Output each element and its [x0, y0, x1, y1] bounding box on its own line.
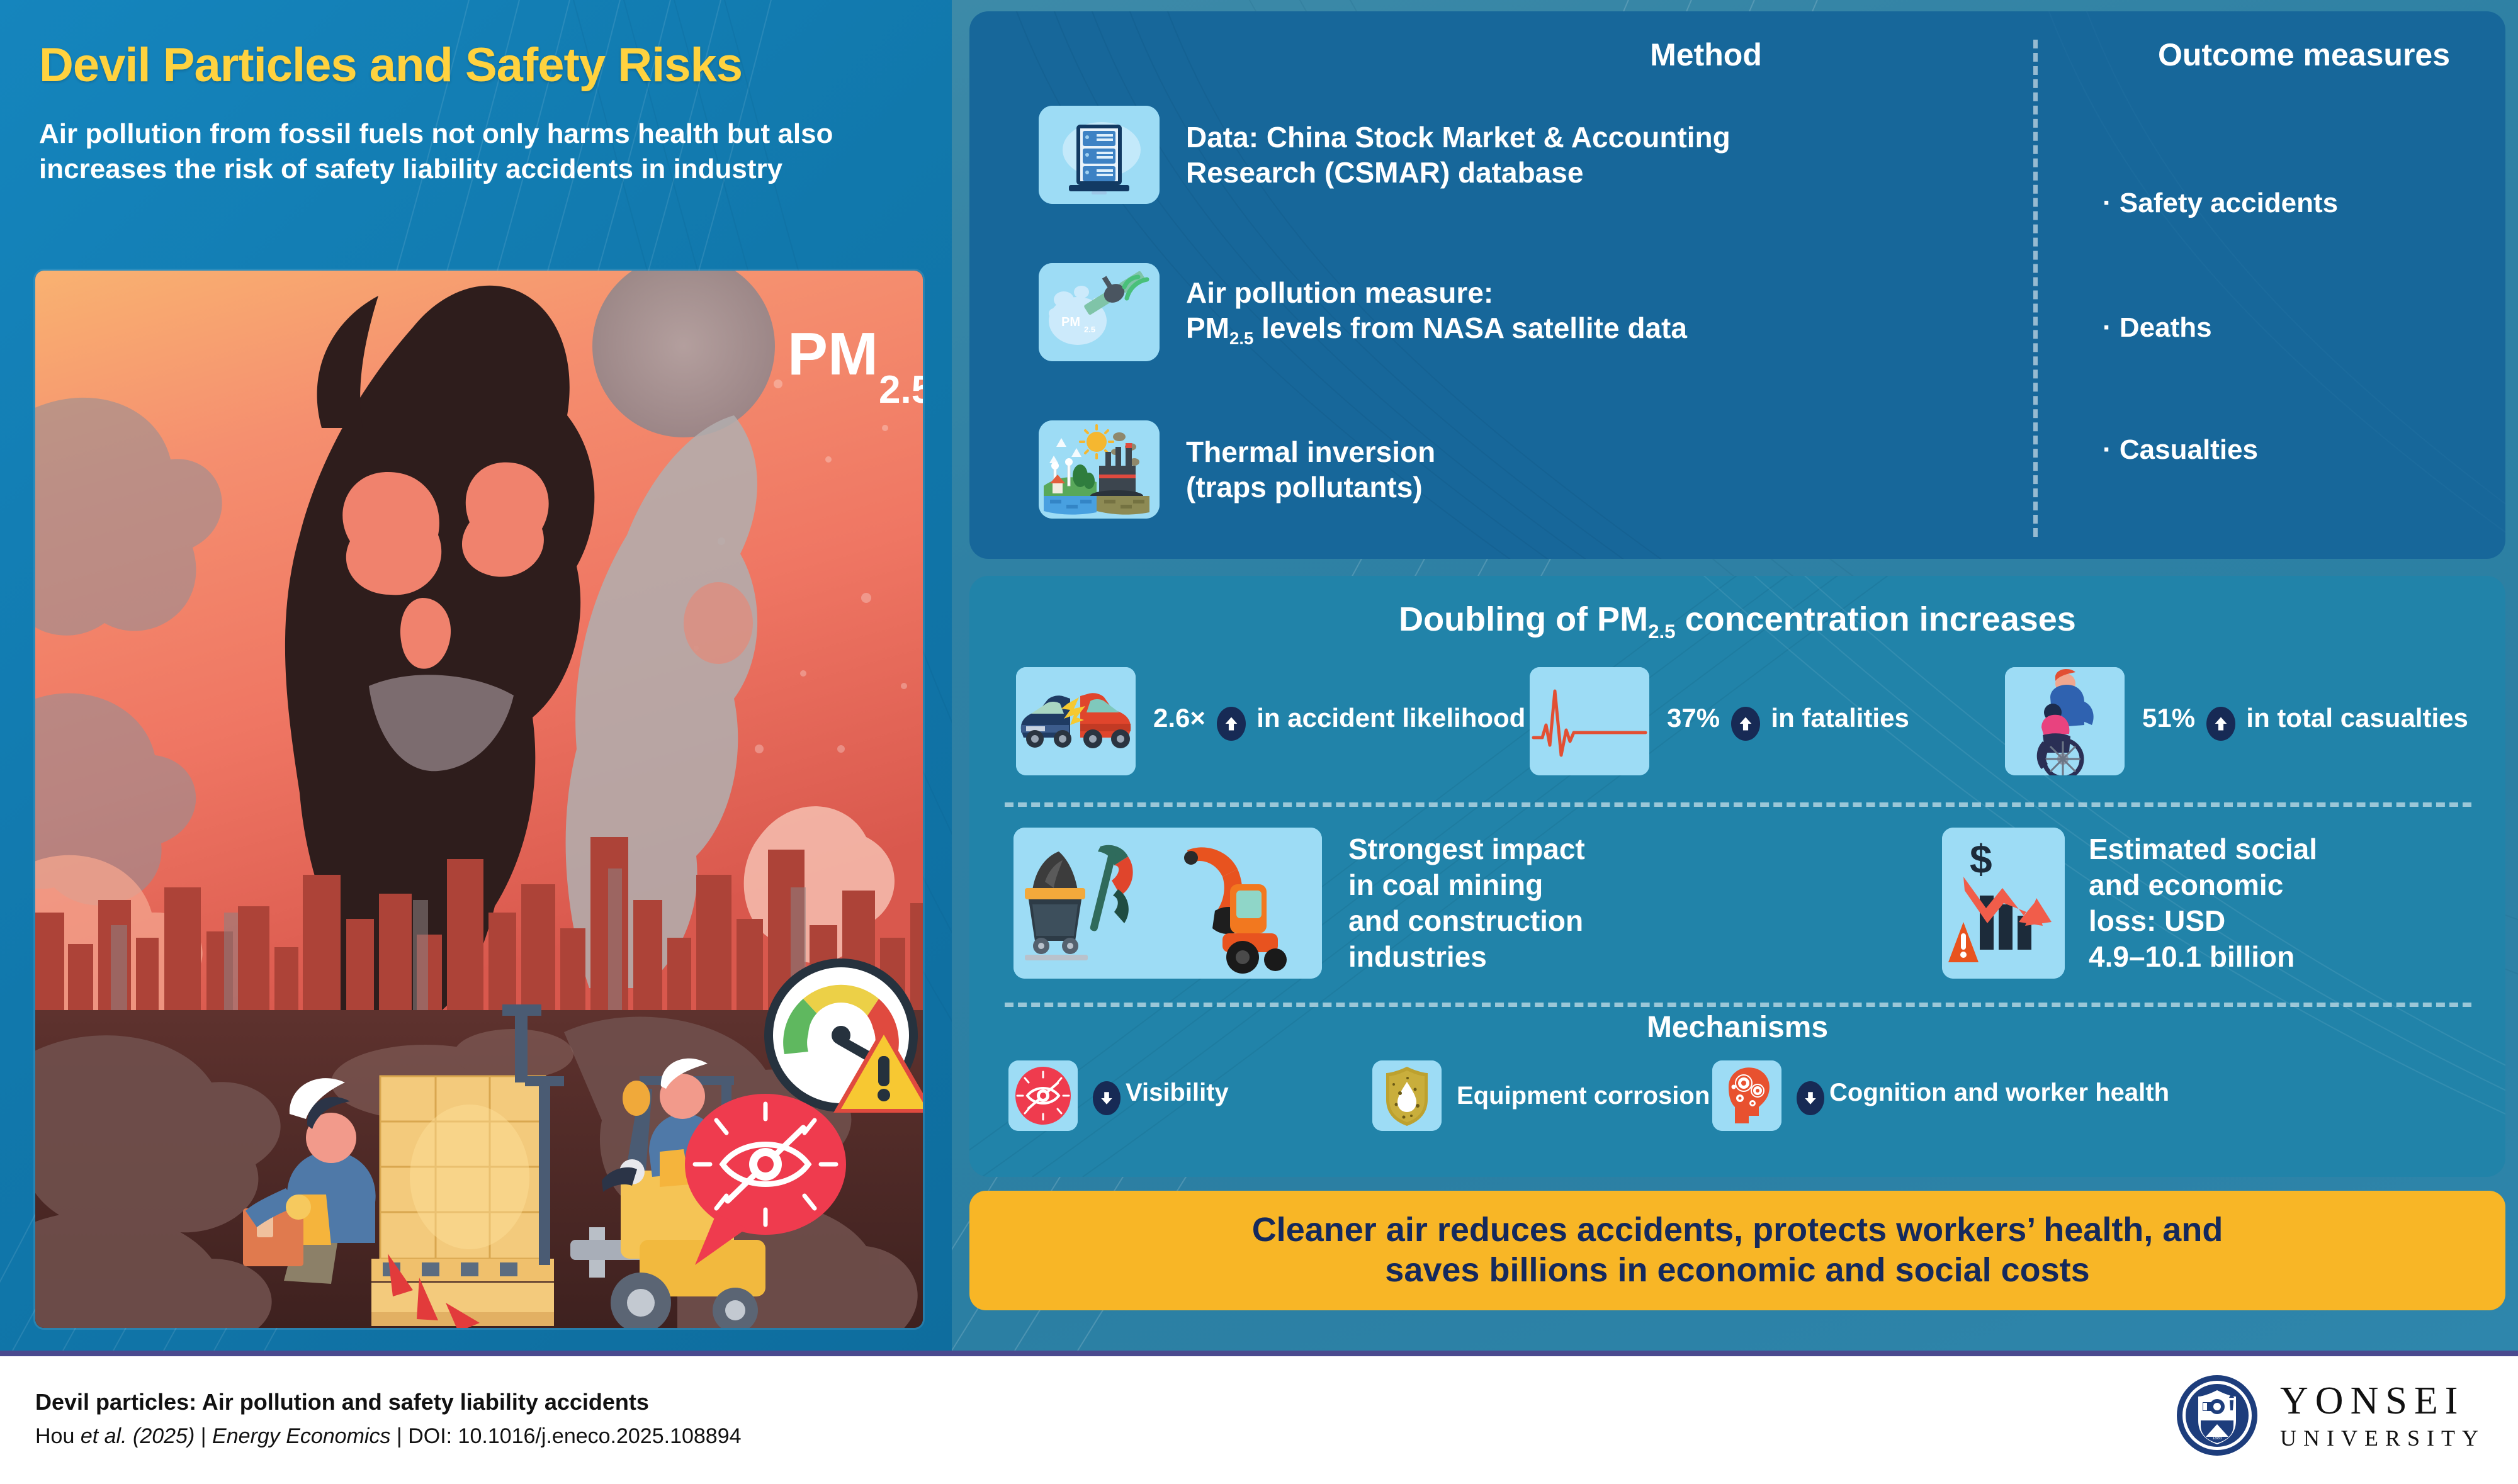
- infographic-canvas: Devil Particles and Safety Risks Air pol…: [0, 0, 2518, 1484]
- pm-rest: levels from NASA satellite data: [1253, 312, 1687, 344]
- stat-total-casualties: 51% in total casualties: [2005, 667, 2468, 775]
- stat-fatalities-value: 37%: [1667, 703, 1720, 733]
- method-row-data-line1: Data: China Stock Market & Accounting: [1186, 120, 1730, 155]
- method-row-thermal-inversion: Thermal inversion (traps pollutants): [1039, 420, 1435, 519]
- economic-loss-block: $: [1942, 828, 2317, 979]
- stat-fatalities: 37% in fatalities: [1530, 667, 1909, 775]
- method-row-air-pollution-text: Air pollution measure: PM2.5 levels from…: [1186, 275, 1687, 349]
- outcome-item-casualties: · Casualties: [2103, 434, 2258, 466]
- pm-text: PM: [1186, 312, 1229, 344]
- footer-doi: DOI: 10.1016/j.eneco.2025.108894: [408, 1424, 741, 1448]
- loss-line-2: and economic: [2089, 867, 2317, 903]
- footer-citation: Hou et al. (2025) | Energy Economics | D…: [35, 1424, 742, 1449]
- stat-casualties-label: in total casualties: [2239, 703, 2468, 733]
- method-row-thermal-line2: (traps pollutants): [1186, 469, 1435, 505]
- stat-accident-text: 2.6× in accident likelihood: [1153, 702, 1525, 741]
- stat-accident-label: in accident likelihood: [1250, 703, 1526, 733]
- declining-chart-dollar-icon: $: [1942, 828, 2065, 979]
- corroded-shield-icon: [1372, 1060, 1442, 1131]
- method-row-thermal-text: Thermal inversion (traps pollutants): [1186, 434, 1435, 505]
- up-arrow-icon: [1731, 707, 1760, 741]
- yonsei-crest-icon: 1885: [2176, 1374, 2259, 1457]
- impact-industries-block: Strongest impact in coal mining and cons…: [1013, 828, 1585, 979]
- findings-title: Doubling of PM2.5 concentration increase…: [969, 600, 2505, 643]
- mechanism-visibility-label: Visibility: [1126, 1079, 1229, 1106]
- vertical-dashed-divider: [2033, 40, 2038, 537]
- database-server-icon: [1039, 106, 1160, 204]
- loss-line-3: loss: USD: [2089, 903, 2317, 939]
- stat-casualties-text: 51% in total casualties: [2142, 702, 2468, 741]
- car-crash-icon: [1016, 667, 1136, 775]
- yonsei-university-logo: 1885 YONSEI UNIVERSITY: [2176, 1374, 2485, 1457]
- impact-line-2: in coal mining: [1348, 867, 1585, 903]
- factory-landscape-icon: [1039, 420, 1160, 519]
- mechanism-cognition-text: Cognition and worker health: [1797, 1077, 2169, 1115]
- page-title: Devil Particles and Safety Risks: [39, 38, 920, 93]
- svg-text:$: $: [1970, 836, 1992, 882]
- footer-sep-2: |: [390, 1424, 408, 1448]
- outcome-item-safety-accidents: · Safety accidents: [2103, 188, 2338, 219]
- left-panel: Devil Particles and Safety Risks Air pol…: [0, 0, 952, 1351]
- impact-line-4: industries: [1348, 939, 1585, 975]
- method-row-air-pollution: PM 2.5: [1039, 263, 1687, 361]
- mechanism-visibility: Visibility: [1008, 1060, 1229, 1131]
- loss-line-1: Estimated social: [2089, 831, 2317, 867]
- footer: Devil particles: Air pollution and safet…: [0, 1351, 2518, 1484]
- method-row-data: Data: China Stock Market & Accounting Re…: [1039, 106, 1730, 204]
- method-row-air-line1: Air pollution measure:: [1186, 275, 1687, 310]
- pm-subscript-label: 2.5: [879, 368, 923, 412]
- findings-card: Doubling of PM2.5 concentration increase…: [969, 576, 2505, 1177]
- method-row-air-line2: PM2.5 levels from NASA satellite data: [1186, 310, 1687, 349]
- mechanism-equipment-corrosion: Equipment corrosion: [1372, 1060, 1710, 1131]
- conclusion-banner: Cleaner air reduces accidents, protects …: [969, 1191, 2505, 1310]
- conclusion-line-2: saves billions in economic and social co…: [1252, 1251, 2223, 1291]
- coal-mining-excavator-icon: [1013, 828, 1322, 979]
- horizontal-dashed-divider-1: [1005, 802, 2471, 807]
- stat-accident-likelihood: 2.6× in accident likelihood: [1016, 667, 1525, 775]
- svg-text:2.5: 2.5: [1084, 325, 1095, 334]
- pm-label: PM: [788, 320, 878, 388]
- method-row-data-line2: Research (CSMAR) database: [1186, 155, 1730, 190]
- eye-slash-icon: [1008, 1060, 1078, 1131]
- stat-casualties-value: 51%: [2142, 703, 2195, 733]
- injured-person-wheelchair-icon: [2005, 667, 2125, 775]
- svg-text:PM: PM: [1061, 315, 1080, 329]
- impact-text: Strongest impact in coal mining and cons…: [1348, 831, 1585, 975]
- economic-loss-text: Estimated social and economic loss: USD …: [2089, 831, 2317, 975]
- footer-etal: et al.: [81, 1424, 127, 1448]
- brain-gears-icon: [1712, 1060, 1781, 1131]
- mechanism-cognition: Cognition and worker health: [1712, 1060, 2474, 1131]
- method-title: Method: [1328, 37, 2084, 73]
- mechanism-cognition-label: Cognition and worker health: [1829, 1079, 2169, 1106]
- stat-accident-value: 2.6×: [1153, 703, 1205, 733]
- down-arrow-icon: [1797, 1081, 1824, 1115]
- findings-title-pre: Doubling of PM: [1399, 600, 1648, 638]
- pm-subscript: 2.5: [1229, 329, 1253, 348]
- right-column: Method Outcome measures: [952, 0, 2518, 1351]
- page-subtitle: Air pollution from fossil fuels not only…: [39, 116, 908, 188]
- method-row-thermal-line1: Thermal inversion: [1186, 434, 1435, 469]
- findings-title-subscript: 2.5: [1648, 621, 1676, 643]
- stat-fatalities-text: 37% in fatalities: [1667, 702, 1909, 741]
- horizontal-dashed-divider-2: [1005, 1003, 2471, 1007]
- up-arrow-icon: [2206, 707, 2235, 741]
- heartbeat-ecg-icon: [1530, 667, 1649, 775]
- loss-line-4: 4.9–10.1 billion: [2089, 939, 2317, 975]
- method-card: Method Outcome measures: [969, 11, 2505, 559]
- outcome-measures-title: Outcome measures: [2109, 37, 2499, 73]
- footer-article-title: Devil particles: Air pollution and safet…: [35, 1389, 649, 1415]
- logo-wordmark-secondary: UNIVERSITY: [2280, 1427, 2485, 1449]
- findings-title-post: concentration increases: [1676, 600, 2076, 638]
- conclusion-banner-text: Cleaner air reduces accidents, protects …: [1227, 1210, 2249, 1290]
- stat-fatalities-label: in fatalities: [1764, 703, 1909, 733]
- footer-sep-1: |: [195, 1424, 212, 1448]
- crest-year: 1885: [2212, 1436, 2222, 1441]
- down-arrow-icon: [1093, 1081, 1121, 1115]
- pollution-illustration: PM 2.5: [35, 271, 923, 1328]
- mechanism-visibility-text: Visibility: [1093, 1077, 1229, 1115]
- mechanism-corrosion-text: Equipment corrosion: [1457, 1080, 1710, 1111]
- footer-journal: Energy Economics: [212, 1424, 390, 1448]
- method-row-data-text: Data: China Stock Market & Accounting Re…: [1186, 120, 1730, 190]
- mechanisms-title: Mechanisms: [969, 1010, 2505, 1045]
- conclusion-line-1: Cleaner air reduces accidents, protects …: [1252, 1210, 2223, 1251]
- logo-wordmark-primary: YONSEI: [2280, 1381, 2485, 1420]
- impact-line-3: and construction: [1348, 903, 1585, 939]
- satellite-icon: PM 2.5: [1039, 263, 1160, 361]
- up-arrow-icon: [1217, 707, 1246, 741]
- outcome-item-deaths: · Deaths: [2103, 312, 2212, 344]
- footer-year: (2025): [127, 1424, 195, 1448]
- footer-authors: Hou: [35, 1424, 81, 1448]
- impact-line-1: Strongest impact: [1348, 831, 1585, 867]
